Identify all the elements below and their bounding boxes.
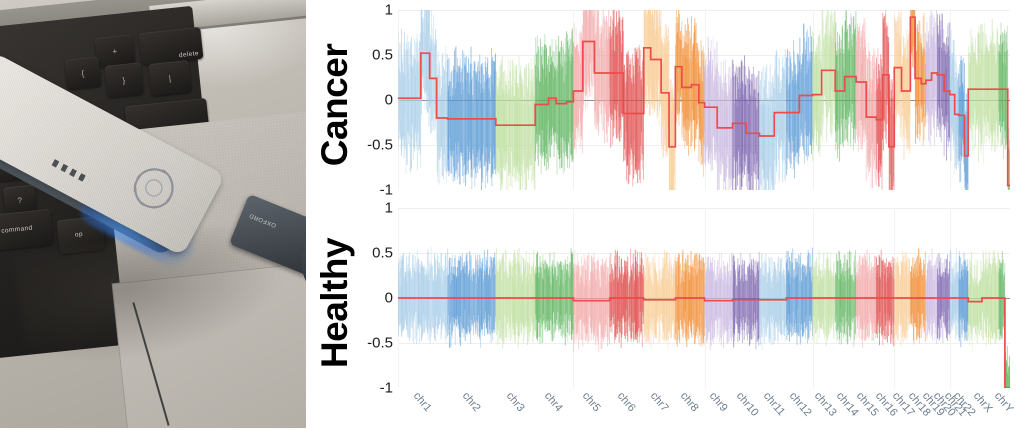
x-tick-label-chr3: chr3 [503, 390, 526, 414]
copy-number-chart: Cancer Healthy 10.50-0.5-1 10.50-0.5-1 c… [306, 0, 1024, 428]
x-tick-label-chr8: chr8 [678, 390, 701, 414]
chromosome-bins-chr22 [959, 56, 968, 190]
x-tick-label-chr11: chr11 [761, 390, 787, 418]
key-brace-left: { [65, 56, 102, 89]
y-tick-label: -1 [380, 380, 393, 397]
chromosome-bins-chr8 [676, 10, 705, 177]
y-tick-label: -0.5 [367, 137, 393, 154]
chromosome-bins-chr11 [760, 253, 786, 350]
plot-area [398, 10, 1010, 190]
chromosome-bins-chr13 [813, 10, 835, 161]
chromosome-bins-chr12 [787, 248, 813, 346]
x-tick-label-chr5: chr5 [579, 390, 602, 414]
chromosome-bins-chr3 [496, 55, 535, 190]
chromosome-bins-chr22 [959, 251, 968, 347]
y-tick-label: 1 [385, 2, 393, 19]
x-tick-label-chr2: chr2 [459, 390, 482, 414]
key-brace-right: } [104, 62, 143, 98]
plot-area [398, 208, 1010, 388]
chromosome-bins-chrX [968, 19, 998, 164]
x-tick-label-chr7: chr7 [647, 390, 670, 414]
chromosome-bins-chr18 [911, 248, 926, 344]
key-command: command [0, 209, 54, 252]
chromosome-bins-chr19 [926, 249, 937, 344]
chromosome-bins-chr11 [760, 49, 786, 190]
x-tick-label-chr9: chr9 [706, 390, 729, 414]
minion-sequencer-photo: + delete { } | return shift < ? command … [0, 0, 306, 428]
panel-cancer: 10.50-0.5-1 [398, 10, 1010, 190]
y-tick-label: 0 [385, 290, 393, 307]
panel-healthy: 10.50-0.5-1 [398, 208, 1010, 388]
chromosome-bins-chr6 [610, 10, 644, 186]
panel-label-healthy: Healthy [314, 232, 356, 374]
chromosome-bins-chr4 [535, 248, 573, 345]
chromosome-bins-chr14 [835, 10, 855, 162]
x-tick-label-chr6: chr6 [615, 390, 638, 414]
x-tick-label-chr10: chr10 [734, 390, 761, 419]
y-tick-label: 0.5 [372, 245, 393, 262]
chromosome-bins-chr9 [705, 37, 733, 190]
y-tick-label: 0 [385, 92, 393, 109]
chromosome-bins-chr1 [398, 247, 447, 345]
y-tick-label: -0.5 [367, 335, 393, 352]
chromosome-bins-chr5 [574, 10, 610, 153]
y-tick-label: 0.5 [372, 47, 393, 64]
x-tick-label-chrY: chrY [992, 390, 1016, 415]
x-axis-chromosome-labels: chr1chr2chr3chr4chr5chr6chr7chr8chr9chr1… [398, 390, 1010, 430]
panel-label-cancer: Cancer [314, 40, 356, 170]
oxford-label: OXFORD [248, 212, 277, 228]
x-tick-label-chr1: chr1 [411, 390, 434, 414]
x-tick-label-chr4: chr4 [542, 390, 565, 414]
data-series-healthy [398, 208, 1010, 388]
y-tick-label: -1 [380, 182, 393, 199]
x-tick-label-chr12: chr12 [787, 390, 814, 419]
key-pipe: | [148, 60, 191, 96]
figure-root: + delete { } | return shift < ? command … [0, 0, 1024, 428]
y-tick-label: 1 [385, 200, 393, 217]
chromosome-bins-chr16 [877, 10, 894, 190]
x-tick-label-chr13: chr13 [812, 390, 839, 419]
chromosome-bins-chr7 [644, 10, 675, 190]
chromosome-bins-chr21 [950, 249, 959, 340]
data-series-cancer [398, 10, 1010, 190]
key-delete: delete [138, 27, 203, 65]
